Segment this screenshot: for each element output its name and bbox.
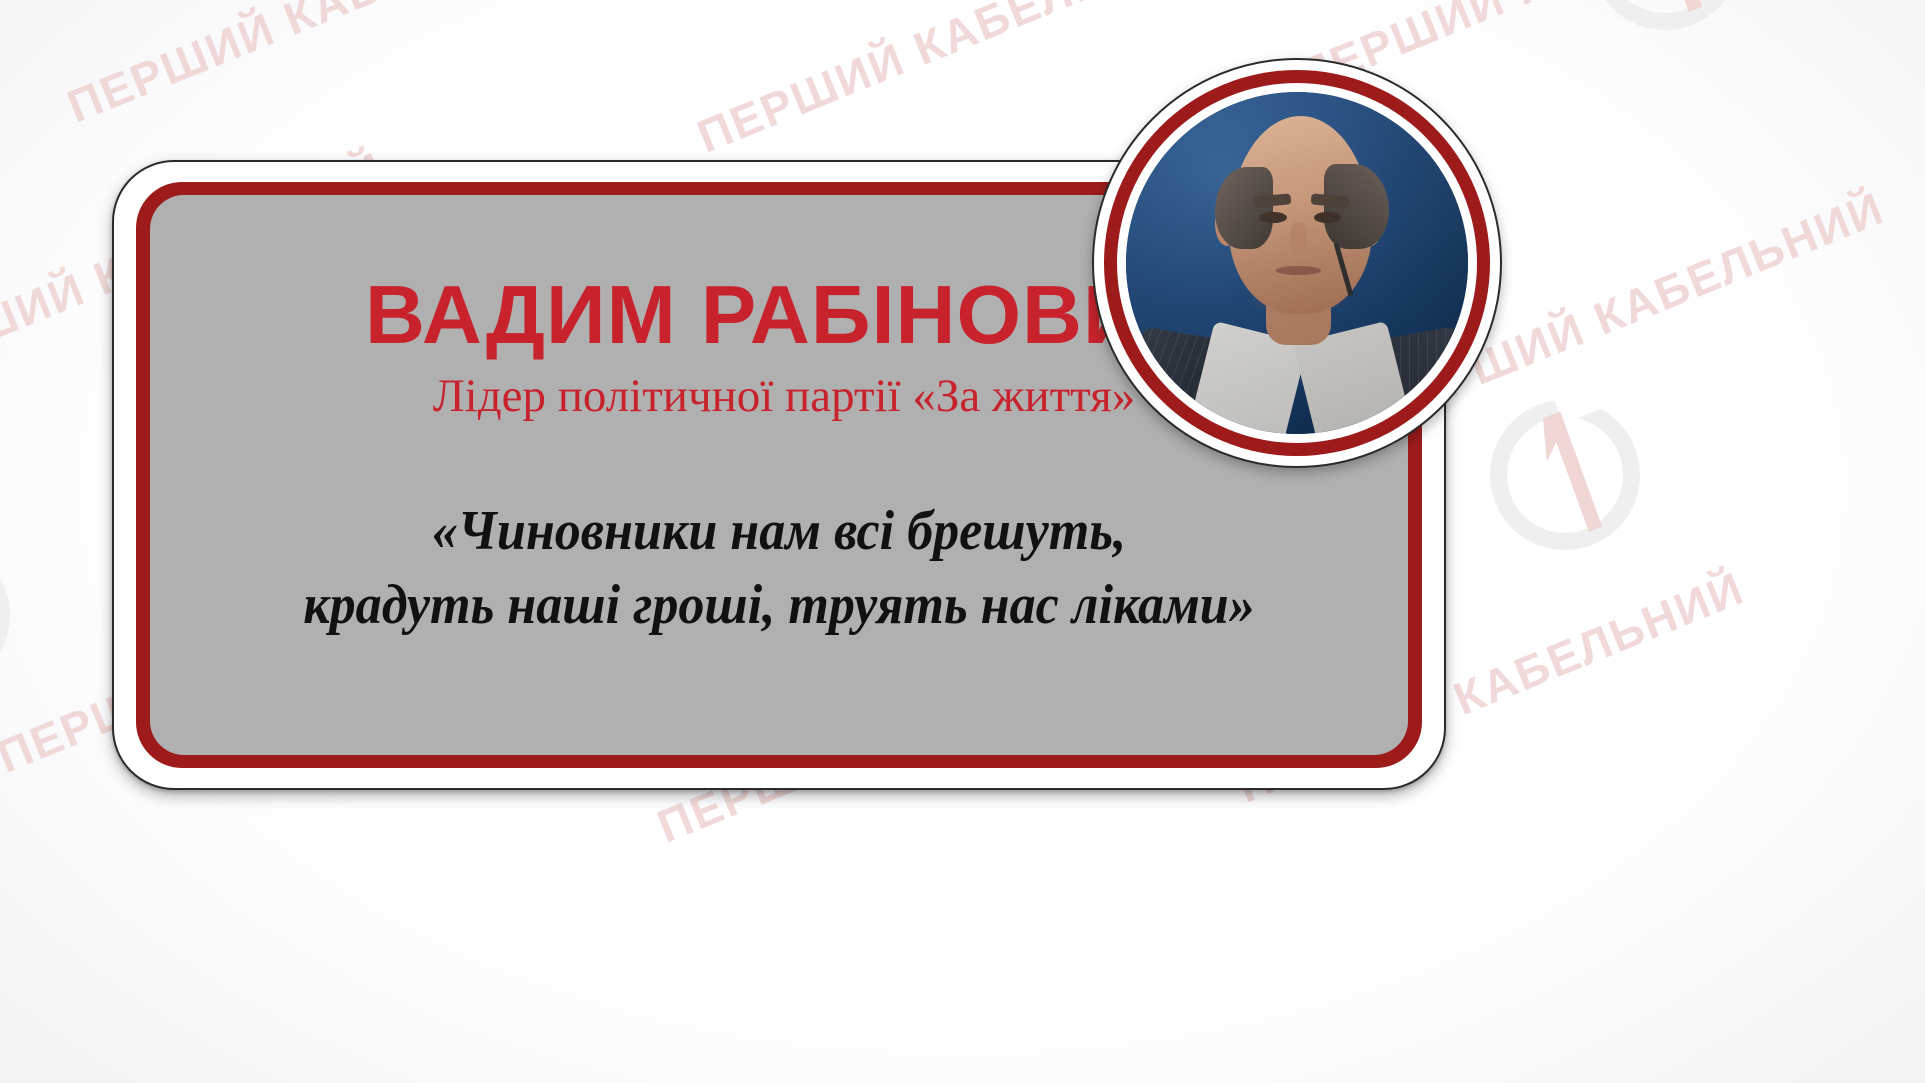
watermark-logo-icon xyxy=(1567,0,1762,53)
watermark-logo-icon xyxy=(547,0,742,3)
quote-text: «Чиновники нам всі брешуть, крадуть наші… xyxy=(194,495,1364,643)
portrait-red-ring xyxy=(1104,70,1490,456)
portrait-outer-ring xyxy=(1092,58,1502,468)
quote-line-2: крадуть наші гроші, труять нас ліками» xyxy=(250,569,1308,643)
quote-line-1: «Чиновники нам всі брешуть, xyxy=(250,495,1308,569)
watermark-text: ПЕРШИЙ КАБЕЛЬНИЙ xyxy=(60,0,582,133)
portrait-white-gap xyxy=(1117,83,1477,443)
watermark-logo-icon xyxy=(0,517,33,712)
slide-stage: ПЕРШИЙ КАБЕЛЬНИЙ ПЕРШИЙ КАБЕЛЬНИЙ ПЕРШИЙ… xyxy=(0,0,1925,1083)
watermark-text: ПЕРШИЙ КАБЕЛЬНИЙ xyxy=(0,0,192,93)
portrait xyxy=(1092,58,1502,468)
portrait-photo xyxy=(1126,92,1468,434)
